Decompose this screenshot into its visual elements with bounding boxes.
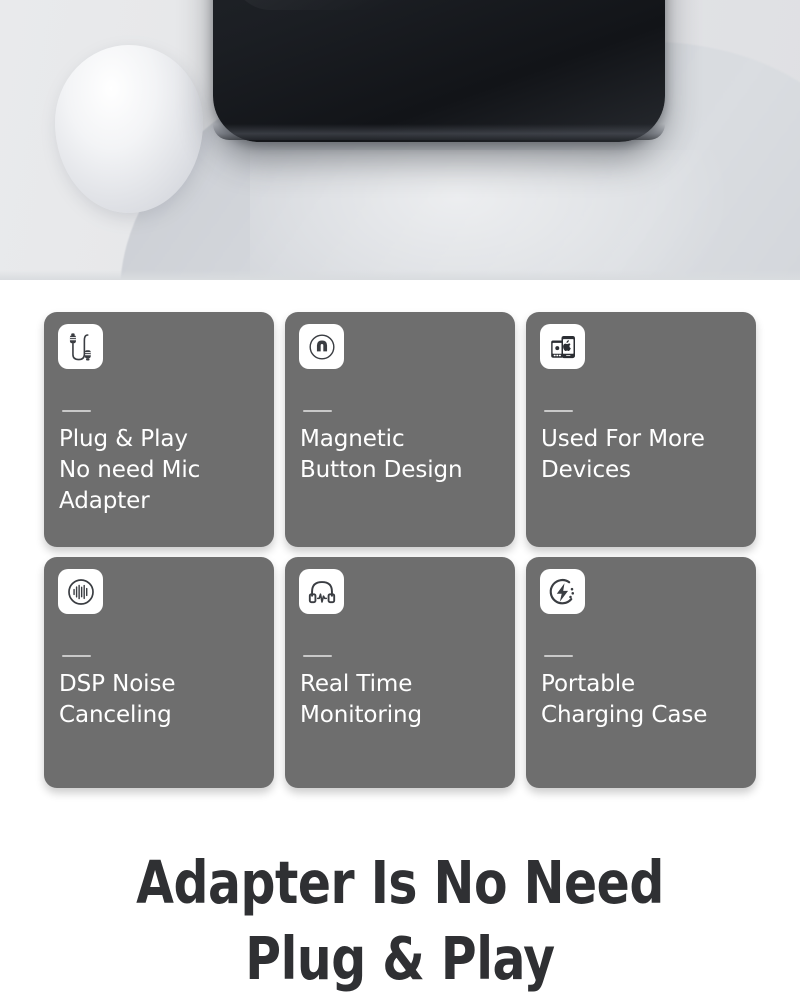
feature-card-dsp-noise-canceling[interactable]: DSP Noise Canceling (44, 557, 274, 788)
feature-card-title: Real Time Monitoring (300, 669, 509, 731)
feature-card-title: DSP Noise Canceling (59, 669, 268, 731)
hero-product-image (0, 0, 800, 280)
card-divider-dash (303, 655, 332, 657)
card-divider-dash (62, 655, 91, 657)
magnet-circle-icon (299, 324, 344, 369)
sound-wave-circle-icon (58, 569, 103, 614)
feature-card-title: Used For More Devices (541, 424, 750, 486)
headphones-waveform-icon (299, 569, 344, 614)
feature-card-plug-and-play[interactable]: Plug & Play No need Mic Adapter (44, 312, 274, 547)
hero-background-highlight (250, 150, 770, 280)
card-divider-dash (544, 410, 573, 412)
two-phones-devices-icon (540, 324, 585, 369)
card-divider-dash (544, 655, 573, 657)
feature-card-magnetic-button[interactable]: Magnetic Button Design (285, 312, 515, 547)
earbud-case-bottom-edge (213, 124, 665, 140)
earbud-case-highlight (231, 0, 531, 10)
feature-card-portable-charging-case[interactable]: Portable Charging Case (526, 557, 756, 788)
card-divider-dash (303, 410, 332, 412)
hero-bottom-fade (0, 270, 800, 280)
audio-cable-plug-icon (58, 324, 103, 369)
card-divider-dash (62, 410, 91, 412)
earbud-case-product (213, 0, 665, 142)
feature-card-title: Magnetic Button Design (300, 424, 509, 486)
feature-card-more-devices[interactable]: Used For More Devices (526, 312, 756, 547)
fast-charging-bolt-icon (540, 569, 585, 614)
feature-card-title: Portable Charging Case (541, 669, 750, 731)
feature-card-grid: Plug & Play No need Mic Adapter Magnetic… (44, 312, 756, 788)
feature-card-title: Plug & Play No need Mic Adapter (59, 424, 268, 517)
footer-headline: Adapter Is No Need Plug & Play (32, 845, 768, 997)
feature-card-real-time-monitoring[interactable]: Real Time Monitoring (285, 557, 515, 788)
